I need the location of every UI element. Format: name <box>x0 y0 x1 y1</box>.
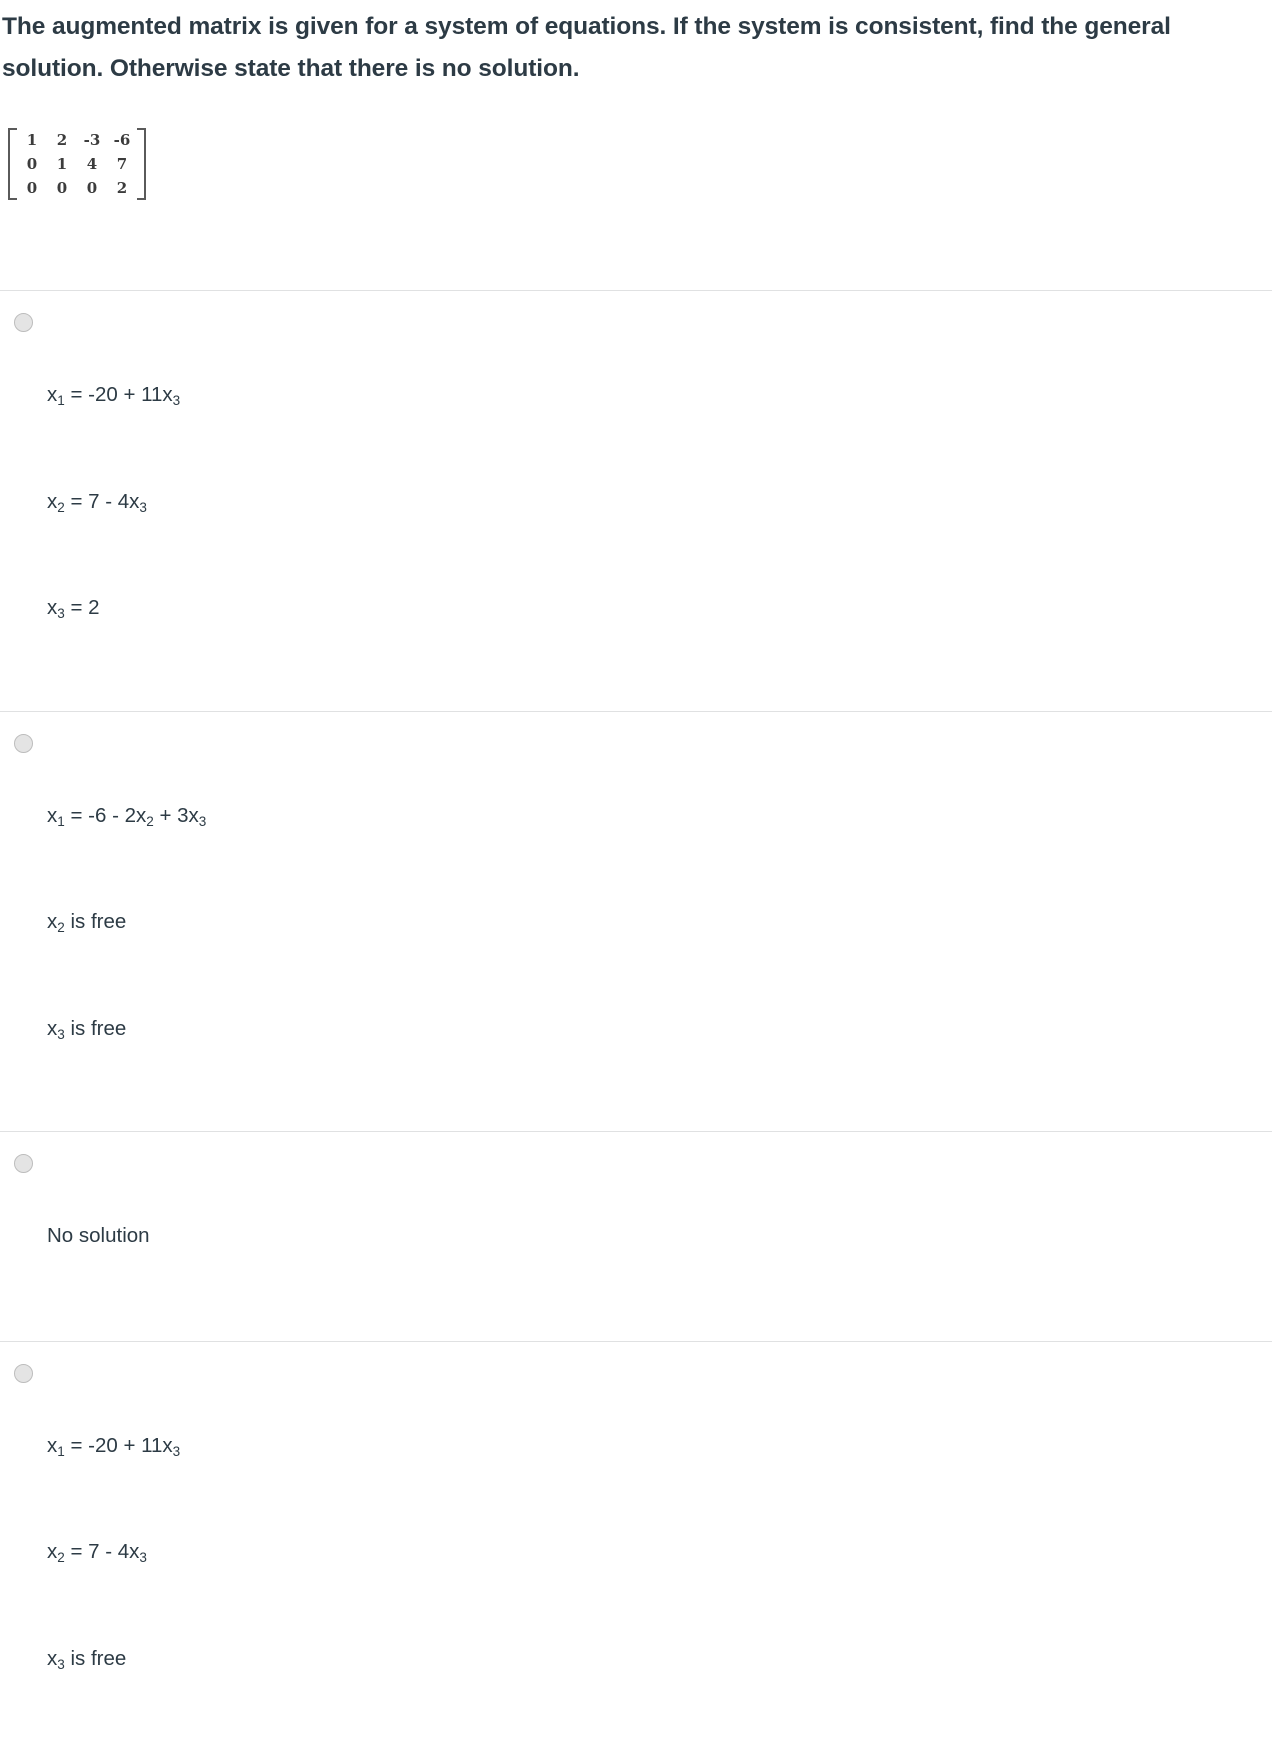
answer-subscript: 2 <box>57 920 65 935</box>
answer-subscript: 3 <box>57 606 65 621</box>
matrix-cell: 1 <box>17 128 47 152</box>
matrix-cell: 2 <box>107 176 137 200</box>
answer-expr: is free <box>65 910 127 933</box>
answer-var: x <box>47 804 57 827</box>
answer-subscript: 1 <box>57 393 65 408</box>
answer-line: x1 = -20 + 11x3 <box>47 377 180 413</box>
answer-option-b[interactable]: x1 = -6 - 2x2 + 3x3 x2 is free x3 is fre… <box>0 712 1273 1132</box>
matrix-cell: 0 <box>17 152 47 176</box>
question-prompt: The augmented matrix is given for a syst… <box>2 6 1273 90</box>
question-page: The augmented matrix is given for a syst… <box>0 0 1273 870</box>
answer-option-c[interactable]: No solution <box>0 1132 1273 1341</box>
answer-subscript: 3 <box>139 500 147 515</box>
answer-line: x3 = 2 <box>47 590 180 626</box>
answer-line: x1 = -6 - 2x2 + 3x3 <box>47 798 206 834</box>
radio-button-d[interactable] <box>14 1364 33 1383</box>
matrix-body: 1 2 -3 -6 0 1 4 7 0 0 0 2 <box>17 128 137 200</box>
answer-var: x <box>47 383 57 406</box>
answer-expr: + 3x <box>154 804 199 827</box>
answer-label-d: x1 = -20 + 11x3 x2 = 7 - 4x3 x3 is free <box>47 1357 180 1740</box>
answer-subscript: 2 <box>57 500 65 515</box>
matrix-cell: 7 <box>107 152 137 176</box>
answer-subscript: 3 <box>173 1444 181 1459</box>
answer-var: x <box>47 1647 57 1670</box>
answer-subscript: 3 <box>173 393 181 408</box>
matrix-right-bracket <box>137 128 146 200</box>
answer-expr: = -20 + 11x <box>65 383 173 406</box>
answer-expr: = -6 - 2x <box>65 804 146 827</box>
matrix-row: 1 2 -3 -6 <box>17 128 137 152</box>
matrix-cell: 0 <box>17 176 47 200</box>
answer-expr: = 7 - 4x <box>65 490 140 513</box>
matrix-table: 1 2 -3 -6 0 1 4 7 0 0 0 2 <box>17 128 137 200</box>
radio-button-b[interactable] <box>14 734 33 753</box>
answer-var: x <box>47 1540 57 1563</box>
answer-subscript: 2 <box>57 1550 65 1565</box>
answer-option-a[interactable]: x1 = -20 + 11x3 x2 = 7 - 4x3 x3 = 2 <box>0 291 1273 711</box>
answer-subscript: 3 <box>57 1027 65 1042</box>
answer-var: x <box>47 910 57 933</box>
answer-line: x2 = 7 - 4x3 <box>47 484 180 520</box>
answer-option-d[interactable]: x1 = -20 + 11x3 x2 = 7 - 4x3 x3 is free <box>0 1342 1273 1740</box>
matrix-cell: -3 <box>77 128 107 152</box>
answer-label-c: No solution <box>47 1147 150 1325</box>
answer-label-a: x1 = -20 + 11x3 x2 = 7 - 4x3 x3 = 2 <box>47 306 180 697</box>
answer-line: x2 is free <box>47 904 206 940</box>
answer-choices: x1 = -20 + 11x3 x2 = 7 - 4x3 x3 = 2 x1 =… <box>0 290 1273 1740</box>
answer-subscript: 1 <box>57 814 65 829</box>
answer-expr: is free <box>65 1017 127 1040</box>
answer-var: x <box>47 490 57 513</box>
matrix-cell: 0 <box>77 176 107 200</box>
answer-line: x1 = -20 + 11x3 <box>47 1428 180 1464</box>
answer-expr: = 2 <box>65 596 100 619</box>
augmented-matrix: 1 2 -3 -6 0 1 4 7 0 0 0 2 <box>8 128 146 200</box>
answer-line: x2 = 7 - 4x3 <box>47 1534 180 1570</box>
answer-line: x3 is free <box>47 1011 206 1047</box>
matrix-left-bracket <box>8 128 17 200</box>
answer-var: x <box>47 596 57 619</box>
matrix-cell: 4 <box>77 152 107 176</box>
answer-label-b: x1 = -6 - 2x2 + 3x3 x2 is free x3 is fre… <box>47 727 206 1118</box>
matrix-row: 0 1 4 7 <box>17 152 137 176</box>
answer-var: x <box>47 1017 57 1040</box>
answer-line: x3 is free <box>47 1641 180 1677</box>
answer-subscript: 1 <box>57 1444 65 1459</box>
answer-var: x <box>47 1434 57 1457</box>
matrix-cell: 1 <box>47 152 77 176</box>
matrix-cell: 0 <box>47 176 77 200</box>
answer-line: No solution <box>47 1218 150 1254</box>
answer-expr: = 7 - 4x <box>65 1540 140 1563</box>
matrix-cell: -6 <box>107 128 137 152</box>
answer-expr: is free <box>65 1647 127 1670</box>
matrix-cell: 2 <box>47 128 77 152</box>
answer-subscript: 2 <box>146 814 154 829</box>
matrix-row: 0 0 0 2 <box>17 176 137 200</box>
answer-expr: = -20 + 11x <box>65 1434 173 1457</box>
radio-button-a[interactable] <box>14 313 33 332</box>
answer-subscript: 3 <box>199 814 207 829</box>
answer-subscript: 3 <box>139 1550 147 1565</box>
radio-button-c[interactable] <box>14 1154 33 1173</box>
answer-subscript: 3 <box>57 1657 65 1672</box>
